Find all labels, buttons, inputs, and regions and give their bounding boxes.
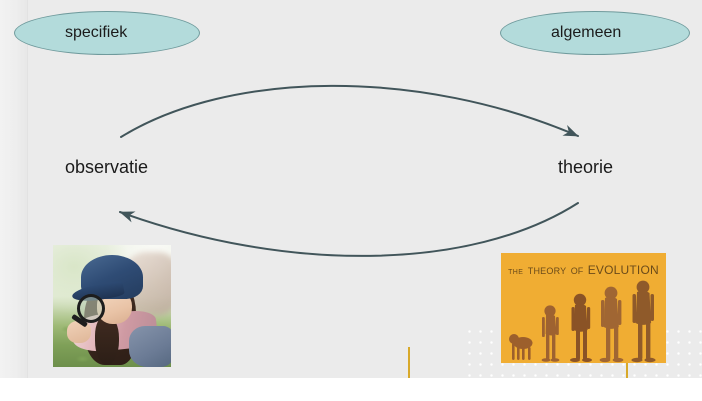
gold-accent-line-left <box>408 347 410 378</box>
left-edge-band <box>0 0 28 378</box>
ellipse-specifiek-label: specifiek <box>65 24 127 42</box>
node-label-theorie: theorie <box>558 157 613 178</box>
magnifying-glass-lens <box>77 294 105 323</box>
evolution-figure-hominid-3 <box>600 287 624 363</box>
evolution-figure-hominid-1 <box>542 305 560 361</box>
evolution-figures <box>501 277 666 363</box>
evolution-figure-hominid-2 <box>570 294 592 362</box>
photo-theory-of-evolution: THE THEORY OF EVOLUTION <box>501 253 666 363</box>
arrow-theorie-to-observatie <box>120 203 578 256</box>
evolution-figure-modern-human <box>631 281 655 363</box>
slide-canvas: specifiek algemeen observatie theorie TH… <box>0 0 702 378</box>
photo-child-jeans <box>129 326 171 367</box>
evolution-title-the: THE <box>508 269 523 276</box>
evolution-title-theory: THEORY <box>528 266 567 276</box>
evolution-title-evolution: EVOLUTION <box>588 263 659 277</box>
node-label-observatie: observatie <box>65 157 148 178</box>
arrow-observatie-to-theorie <box>121 86 578 137</box>
ellipse-specifiek[interactable]: specifiek <box>14 11 200 55</box>
below-slide-area <box>0 378 702 401</box>
photo-child-with-magnifying-glass <box>53 245 171 367</box>
ellipse-algemeen[interactable]: algemeen <box>500 11 690 55</box>
evolution-figure-ape <box>509 334 533 360</box>
evolution-title-of: OF <box>571 266 584 276</box>
left-edge-divider <box>27 0 28 378</box>
ellipse-algemeen-label: algemeen <box>551 24 621 42</box>
